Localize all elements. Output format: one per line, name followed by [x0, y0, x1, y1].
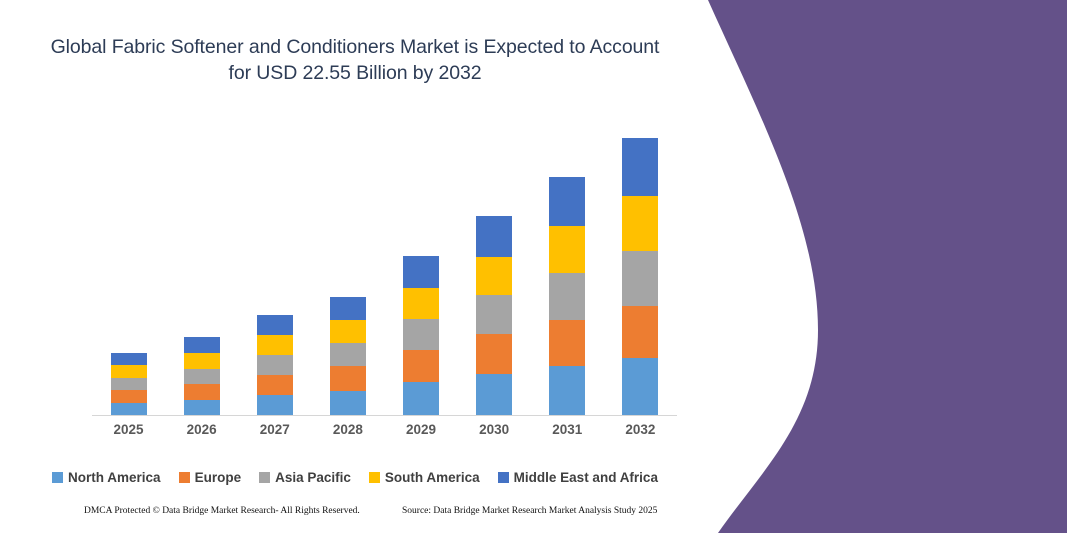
- legend-item[interactable]: Middle East and Africa: [498, 470, 658, 485]
- bar-segment: [549, 320, 585, 366]
- bar-segment: [111, 390, 147, 403]
- bar-segment: [549, 177, 585, 226]
- chart-title: Global Fabric Softener and Conditioners …: [40, 34, 670, 86]
- footer-copyright: DMCA Protected © Data Bridge Market Rese…: [84, 506, 360, 516]
- chart-footer: DMCA Protected © Data Bridge Market Rese…: [0, 506, 710, 522]
- purple-background-shape: [690, 0, 1067, 533]
- legend-item[interactable]: Asia Pacific: [259, 470, 351, 485]
- bar-segment: [476, 295, 512, 334]
- bar-segment: [330, 297, 366, 320]
- x-axis-tick-label: 2030: [459, 422, 529, 437]
- bar-segment: [184, 353, 220, 369]
- bar-segment: [622, 358, 658, 416]
- legend-swatch-icon: [498, 472, 509, 483]
- bar-segment: [257, 375, 293, 395]
- legend-swatch-icon: [259, 472, 270, 483]
- bar-segment: [257, 355, 293, 375]
- legend-item[interactable]: Europe: [179, 470, 242, 485]
- bar-segment: [403, 256, 439, 288]
- x-axis-tick-label: 2032: [605, 422, 675, 437]
- legend-label: South America: [385, 470, 480, 485]
- bar-segment: [257, 395, 293, 416]
- bar-segment: [184, 337, 220, 353]
- bar-segment: [184, 369, 220, 384]
- bar-segment: [549, 366, 585, 416]
- bar-segment: [403, 288, 439, 319]
- legend-label: Europe: [195, 470, 242, 485]
- bar-column: [476, 216, 512, 416]
- bar-segment: [111, 378, 147, 390]
- infographic-root: Global Fabric Softener and Conditioners …: [0, 0, 1067, 533]
- legend-label: Middle East and Africa: [514, 470, 658, 485]
- bar-segment: [111, 353, 147, 365]
- legend-swatch-icon: [369, 472, 380, 483]
- bar-segment: [549, 273, 585, 320]
- bar-segment: [476, 334, 512, 374]
- chart-panel: Global Fabric Softener and Conditioners …: [0, 0, 710, 533]
- chart-legend: North AmericaEuropeAsia PacificSouth Ame…: [0, 470, 710, 485]
- bar-segment: [403, 382, 439, 416]
- bar-segment: [330, 320, 366, 343]
- x-axis-tick-label: 2025: [94, 422, 164, 437]
- bar-segment: [476, 216, 512, 257]
- footer-source: Source: Data Bridge Market Research Mark…: [402, 506, 657, 516]
- x-axis-tick-label: 2029: [386, 422, 456, 437]
- legend-swatch-icon: [179, 472, 190, 483]
- bar-segment: [622, 306, 658, 358]
- legend-item[interactable]: North America: [52, 470, 161, 485]
- bar-column: [622, 138, 658, 416]
- bar-segment: [622, 251, 658, 306]
- bar-column: [257, 315, 293, 416]
- bar-column: [403, 256, 439, 416]
- x-axis-tick-label: 2027: [240, 422, 310, 437]
- legend-label: Asia Pacific: [275, 470, 351, 485]
- bar-segment: [184, 384, 220, 400]
- bar-column: [111, 353, 147, 416]
- x-axis-tick-label: 2026: [167, 422, 237, 437]
- x-axis-tick-label: 2028: [313, 422, 383, 437]
- bar-segment: [622, 138, 658, 196]
- bar-segment: [403, 319, 439, 350]
- bar-segment: [330, 343, 366, 366]
- bar-segment: [330, 366, 366, 391]
- bar-segment: [622, 196, 658, 251]
- x-axis-line: [92, 415, 677, 416]
- bar-column: [549, 177, 585, 416]
- bar-column: [330, 297, 366, 416]
- x-axis-labels: 20252026202720282029203020312032: [92, 422, 677, 442]
- bar-segment: [257, 335, 293, 355]
- bar-segment: [184, 400, 220, 416]
- legend-item[interactable]: South America: [369, 470, 480, 485]
- stacked-bar-chart: [92, 120, 677, 416]
- bar-segment: [549, 226, 585, 273]
- bar-segment: [330, 391, 366, 416]
- bar-segment: [476, 257, 512, 295]
- branding-panel: Global Fabric Softener and Conditioners …: [690, 0, 1067, 533]
- bar-column: [184, 337, 220, 416]
- bar-segment: [111, 365, 147, 378]
- bar-segment: [476, 374, 512, 416]
- bar-segment: [403, 350, 439, 382]
- x-axis-tick-label: 2031: [532, 422, 602, 437]
- legend-swatch-icon: [52, 472, 63, 483]
- bar-segment: [257, 315, 293, 335]
- legend-label: North America: [68, 470, 161, 485]
